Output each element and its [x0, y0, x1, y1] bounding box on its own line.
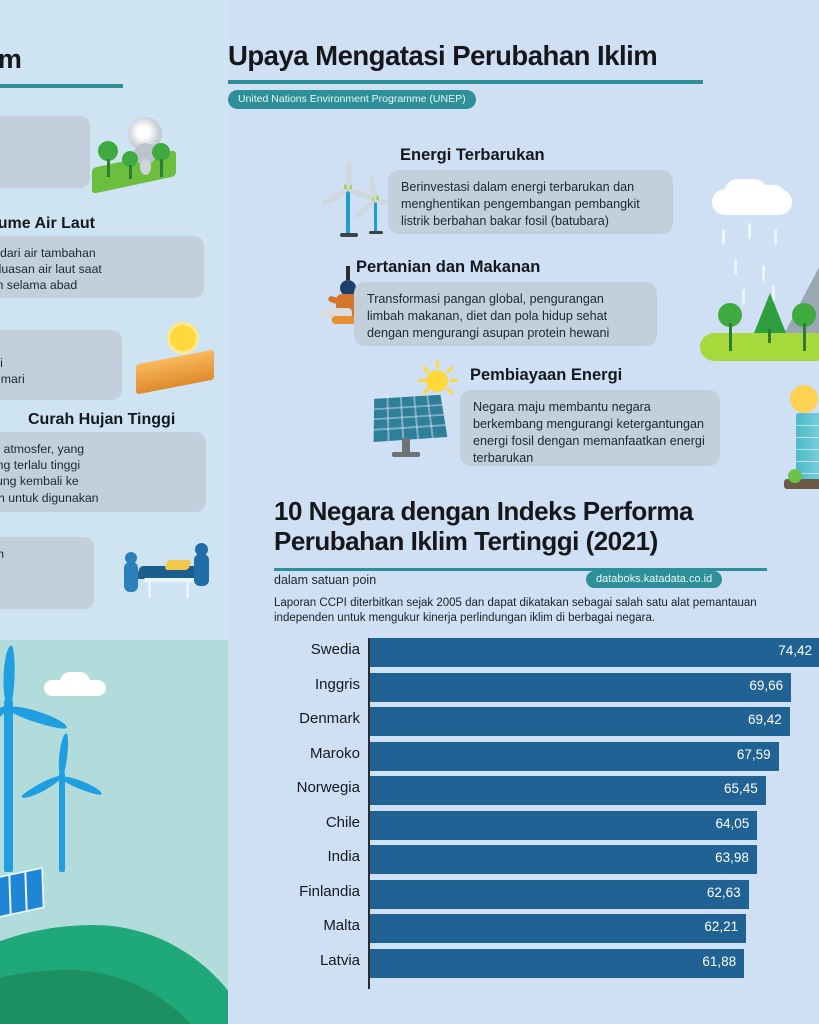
left-callout-2: upakan akibat dari air tambahan encair d… — [0, 236, 204, 298]
chart-row: Swedia74,42 — [262, 638, 802, 667]
chart-row: Malta62,21 — [262, 914, 802, 943]
chart-bar: 65,45 — [370, 776, 766, 805]
chart-row: Inggris69,66 — [262, 673, 802, 702]
left-renewable-scene — [0, 640, 228, 1024]
chart-row: Chile64,05 — [262, 811, 802, 840]
grass-strip — [700, 333, 819, 361]
left-page-title: han Iklim — [0, 44, 208, 75]
chart-bar-value: 63,98 — [715, 850, 749, 865]
chart-bar-value: 62,63 — [707, 885, 741, 900]
chart-category-label: Maroko — [228, 745, 360, 762]
chart-category-label: India — [228, 848, 360, 865]
chart-bar-value: 69,42 — [748, 712, 782, 727]
chart-unit-label: dalam satuan poin — [274, 573, 376, 587]
title-rule — [228, 80, 703, 84]
chart-bar: 64,05 — [370, 811, 757, 840]
chart-category-label: Latvia — [228, 952, 360, 969]
stretcher-patient-icon — [108, 540, 218, 618]
chart-bar: 69,66 — [370, 673, 791, 702]
solar-panel-small-icon — [0, 867, 45, 920]
left-heading-4: Curah Hujan Tinggi — [28, 411, 175, 429]
chart-bar-value: 61,88 — [702, 954, 736, 969]
left-heading-2: gkatan Volume Air Laut — [0, 215, 95, 233]
chart-bar: 62,21 — [370, 914, 746, 943]
chart-bar-value: 65,45 — [724, 781, 758, 796]
rain-cloud-illustration — [696, 185, 819, 365]
city-sun-illustration — [728, 385, 819, 495]
chart-category-label: Denmark — [228, 710, 360, 727]
cloud-bump2-icon — [752, 185, 786, 209]
chart-bar: 67,59 — [370, 742, 779, 771]
chart-bar: 61,88 — [370, 949, 744, 978]
chart-bar: 74,42 — [370, 638, 819, 667]
chart-row: Denmark69,42 — [262, 707, 802, 736]
chart-bar-value: 69,66 — [749, 678, 783, 693]
main-panel: Upaya Mengatasi Perubahan Iklim United N… — [228, 0, 819, 1024]
infographic-page: han Iklim a alam ropis, banjir, n berbag… — [0, 0, 819, 1024]
left-title-rule — [0, 84, 123, 88]
chart-bar-value: 74,42 — [778, 643, 812, 658]
chart-category-label: Finlandia — [228, 883, 360, 900]
left-callout-3: -menerus akan ehingga potensi pakaran me… — [0, 330, 122, 400]
section-body-pembiayaan: Negara maju membantu negara berkembang m… — [460, 390, 720, 466]
left-callout-4: jumlah air pada atmosfer, yang curah huj… — [0, 432, 206, 512]
section-heading-pembiayaan: Pembiayaan Energi — [470, 366, 622, 385]
chart-bar-value: 67,59 — [737, 747, 771, 762]
left-upper-panel: han Iklim a alam ropis, banjir, n berbag… — [0, 0, 228, 640]
chart-category-label: Malta — [228, 917, 360, 934]
wind-turbine-small-icon — [40, 750, 110, 890]
chart-row: Finlandia62,63 — [262, 880, 802, 909]
chart-title: 10 Negara dengan Indeks Performa Perubah… — [274, 496, 774, 556]
section-heading-energi: Energi Terbarukan — [400, 146, 545, 165]
chart-bar: 63,98 — [370, 845, 757, 874]
section-body-pertanian: Transformasi pangan global, pengurangan … — [354, 282, 657, 346]
chart-row: India63,98 — [262, 845, 802, 874]
chart-bar: 62,63 — [370, 880, 749, 909]
chart-category-label: Norwegia — [228, 779, 360, 796]
raindrop-icon — [762, 265, 765, 281]
raindrop-icon — [748, 223, 751, 239]
source-badge[interactable]: databoks.katadata.co.id — [586, 571, 722, 588]
wood-plate-sun-icon — [130, 325, 220, 401]
chart-row: Norwegia65,45 — [262, 776, 802, 805]
sun-icon — [790, 385, 818, 413]
chart-category-label: Swedia — [228, 641, 360, 658]
left-column: han Iklim a alam ropis, banjir, n berbag… — [0, 0, 228, 1024]
raindrop-icon — [734, 259, 737, 275]
solar-panel-icon — [370, 368, 462, 458]
raindrop-icon — [742, 289, 745, 305]
section-body-energi: Berinvestasi dalam energi terbarukan dan… — [388, 170, 673, 234]
bar-chart: Swedia74,42Inggris69,66Denmark69,42Marok… — [262, 638, 802, 990]
section-heading-pertanian: Pertanian dan Makanan — [356, 258, 540, 277]
raindrop-icon — [722, 229, 725, 245]
chart-bar-value: 64,05 — [715, 816, 749, 831]
left-callout-1: a alam ropis, banjir, n berbagai gsi eko… — [0, 116, 90, 188]
pine-tree-icon — [754, 293, 786, 333]
chart-bar: 69,42 — [370, 707, 790, 736]
unep-badge: United Nations Environment Programme (UN… — [228, 90, 476, 109]
chart-category-label: Inggris — [228, 676, 360, 693]
chart-row: Latvia61,88 — [262, 949, 802, 978]
chart-row: Maroko67,59 — [262, 742, 802, 771]
page-title: Upaya Mengatasi Perubahan Iklim — [228, 42, 738, 71]
tornado-forest-icon — [88, 115, 180, 195]
left-callout-5: yebaran wabah n demam va virus-virus g p… — [0, 537, 94, 609]
chart-category-label: Chile — [228, 814, 360, 831]
chart-bar-value: 62,21 — [704, 919, 738, 934]
chart-note: Laporan CCPI diterbitkan sejak 2005 dan … — [274, 596, 784, 625]
